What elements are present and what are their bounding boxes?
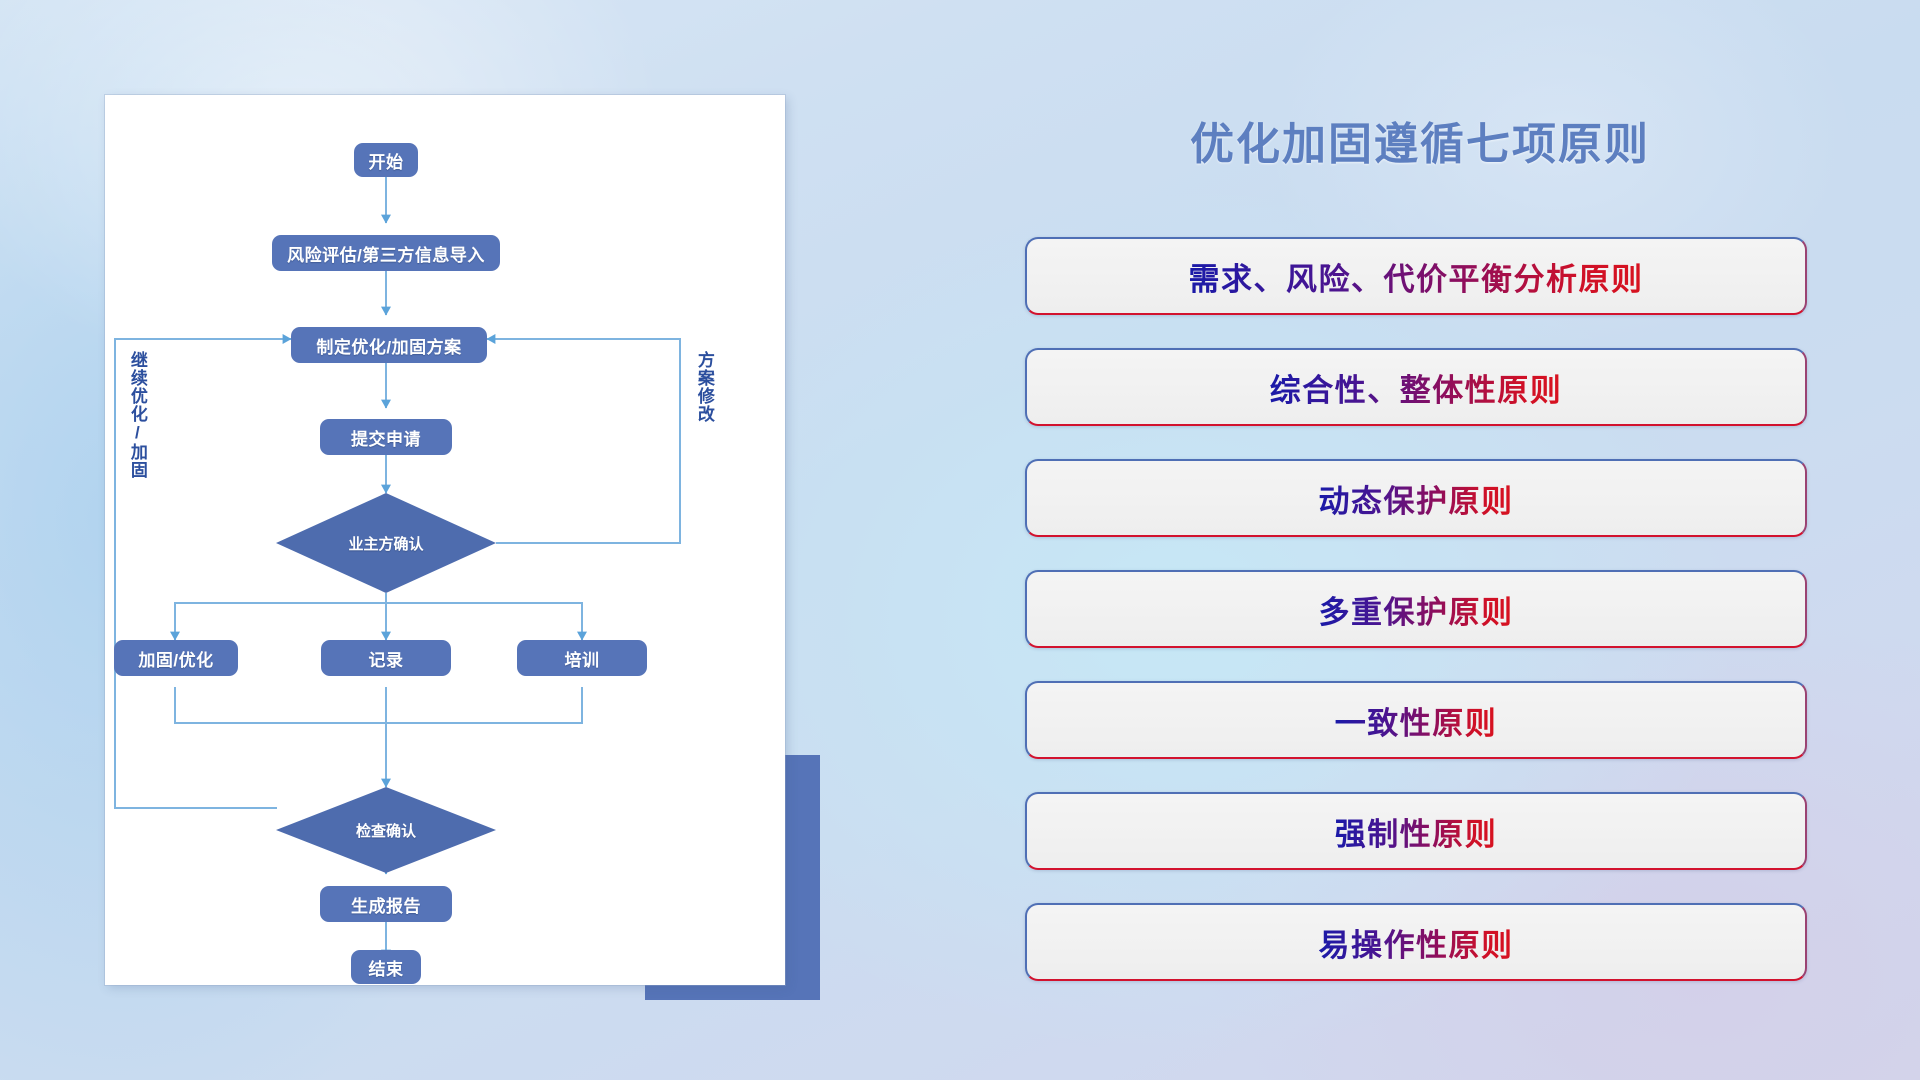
principle-card-2-label: 综合性、整体性原则 (1270, 365, 1563, 410)
flow-node-reinforce-optimize[interactable]: 加固/优化 (114, 640, 238, 676)
flow-node-start-label: 开始 (369, 148, 404, 173)
flow-node-record-label: 记录 (369, 646, 404, 671)
flow-node-make-plan-label: 制定优化/加固方案 (316, 333, 461, 358)
flow-node-training[interactable]: 培训 (517, 640, 647, 676)
principle-card-5-label: 一致性原则 (1335, 698, 1498, 743)
principle-card-7-label: 易操作性原则 (1319, 920, 1514, 965)
principle-card-2[interactable]: 综合性、整体性原则 (1025, 348, 1807, 426)
flow-node-generate-report-label: 生成报告 (351, 892, 421, 917)
principle-card-1[interactable]: 需求、风险、代价平衡分析原则 (1025, 237, 1807, 315)
flow-node-record[interactable]: 记录 (321, 640, 451, 676)
flow-node-generate-report[interactable]: 生成报告 (320, 886, 452, 922)
flow-decision-inspect-confirm-label: 检查确认 (356, 820, 416, 841)
flow-node-submit-application-label: 提交申请 (351, 425, 421, 450)
principle-card-3[interactable]: 动态保护原则 (1025, 459, 1807, 537)
slide-canvas: 开始 风险评估/第三方信息导入 制定优化/加固方案 提交申请 业主方确认 加固/… (0, 0, 1920, 1080)
flow-node-risk-assessment-label: 风险评估/第三方信息导入 (287, 241, 485, 266)
flow-label-plan-revision: 方案修改 (695, 351, 713, 423)
principle-card-4[interactable]: 多重保护原则 (1025, 570, 1807, 648)
principle-card-4-label: 多重保护原则 (1319, 587, 1514, 632)
principle-card-1-label: 需求、风险、代价平衡分析原则 (1189, 254, 1644, 299)
flow-node-end-label: 结束 (369, 955, 404, 980)
flow-node-make-plan[interactable]: 制定优化/加固方案 (291, 327, 487, 363)
principles-title: 优化加固遵循七项原则 (1020, 108, 1820, 172)
flow-node-reinforce-optimize-label: 加固/优化 (138, 646, 213, 671)
flow-node-end[interactable]: 结束 (351, 950, 421, 984)
principle-card-6-label: 强制性原则 (1335, 809, 1498, 854)
flow-node-risk-assessment[interactable]: 风险评估/第三方信息导入 (272, 235, 500, 271)
principle-card-6[interactable]: 强制性原则 (1025, 792, 1807, 870)
principle-card-3-label: 动态保护原则 (1319, 476, 1514, 521)
flow-node-start[interactable]: 开始 (354, 143, 418, 177)
flow-label-continue-optimize: 继续优化/加固 (128, 351, 146, 479)
flowchart-card: 开始 风险评估/第三方信息导入 制定优化/加固方案 提交申请 业主方确认 加固/… (105, 95, 785, 985)
principle-card-5[interactable]: 一致性原则 (1025, 681, 1807, 759)
flow-node-submit-application[interactable]: 提交申请 (320, 419, 452, 455)
flow-decision-owner-confirm-label: 业主方确认 (348, 533, 423, 554)
principle-card-7[interactable]: 易操作性原则 (1025, 903, 1807, 981)
flow-node-training-label: 培训 (565, 646, 600, 671)
